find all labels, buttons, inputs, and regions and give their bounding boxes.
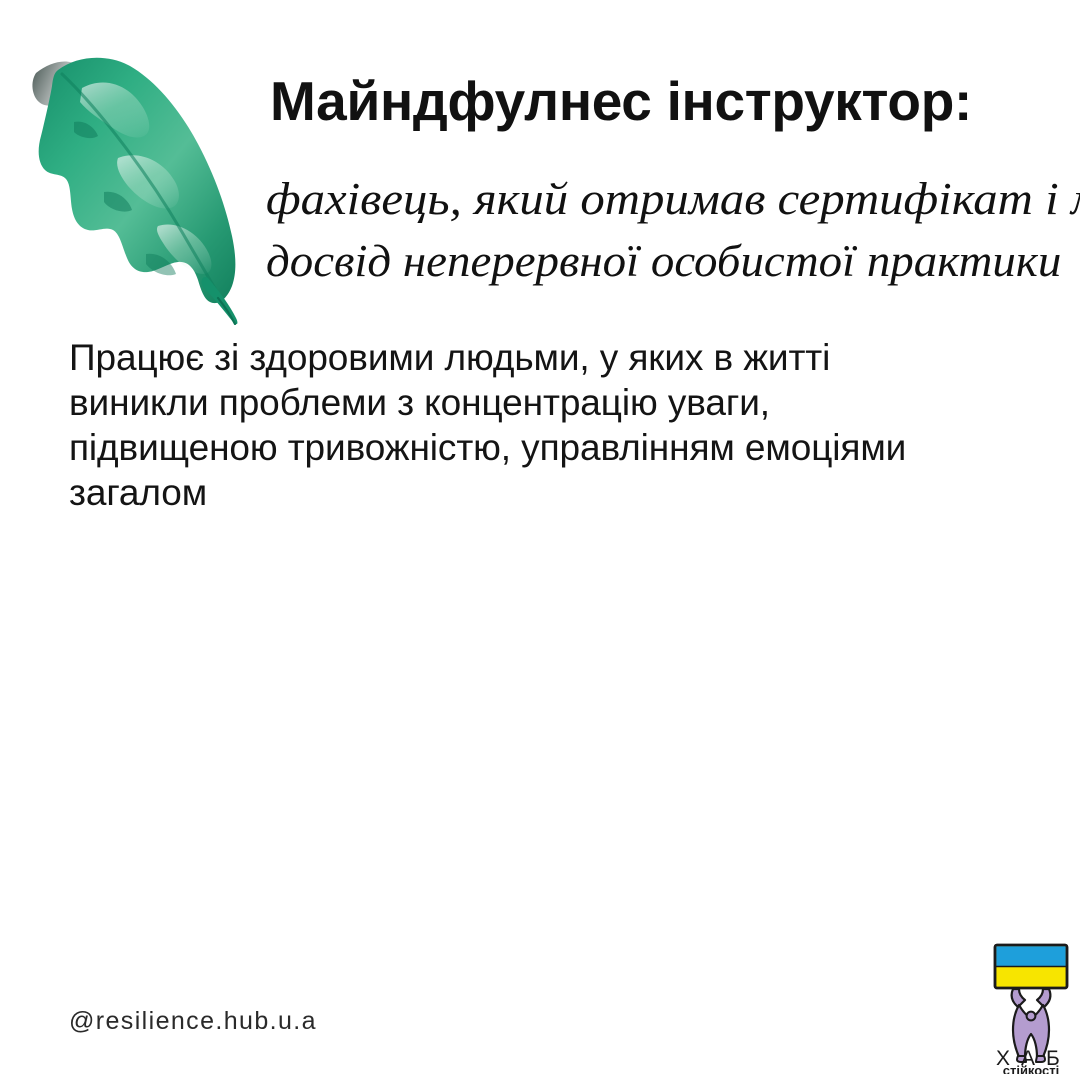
body-line-4: загалом <box>69 470 989 515</box>
leaf-icon <box>22 40 272 325</box>
page-title: Майндфулнес інструктор: <box>270 70 1070 132</box>
body-line-3: підвищеною тривожністю, управлінням емоц… <box>69 425 989 470</box>
body-paragraph: Працює зі здоровими людьми, у яких в жит… <box>69 335 989 515</box>
ukrainian-flag-icon <box>995 945 1067 988</box>
subtitle-line-1: фахівець, який отримав сертифікат і має <box>266 168 1080 230</box>
logo-wordmark: Х А Б стійкості <box>996 1047 1060 1074</box>
logo-tagline: стійкості <box>1003 1063 1060 1074</box>
body-line-1: Працює зі здоровими людьми, у яких в жит… <box>69 335 989 380</box>
subtitle-block: фахівець, який отримав сертифікат і має … <box>266 168 1080 292</box>
body-line-2: виникли проблеми з концентрацію уваги, <box>69 380 989 425</box>
social-handle: @resilience.hub.u.a <box>69 1007 317 1036</box>
brand-logo: Х А Б стійкості <box>983 942 1079 1074</box>
subtitle-line-2: досвід неперервної особистої практики <box>266 230 1080 292</box>
social-post-canvas: Майндфулнес інструктор: фахівець, який о… <box>0 0 1080 1080</box>
